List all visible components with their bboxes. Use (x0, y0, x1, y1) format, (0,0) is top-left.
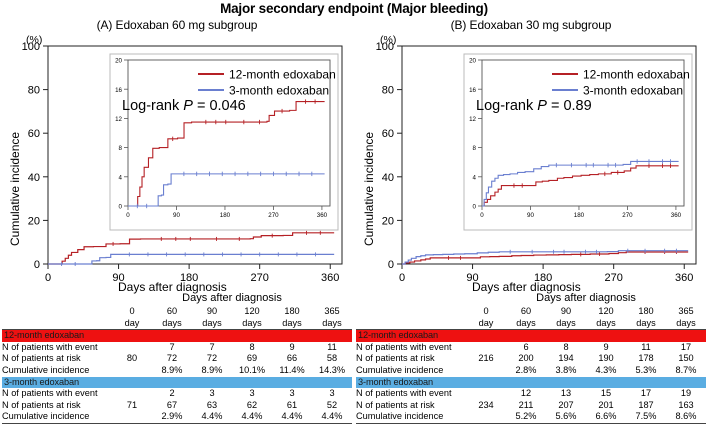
table-cell: 17 (626, 388, 666, 400)
svg-text:270: 270 (605, 272, 623, 284)
table-row: Cumulative incidence2.9%4.4%4.4%4.4%4.4% (2, 411, 352, 423)
table-group-band-label: 12-month edoxaban (356, 330, 466, 342)
table-cell: 15 (586, 388, 626, 400)
svg-text:90: 90 (112, 272, 124, 284)
svg-text:16: 16 (115, 87, 122, 94)
svg-text:0: 0 (473, 204, 477, 211)
svg-text:360: 360 (675, 272, 693, 284)
svg-text:360: 360 (321, 272, 339, 284)
table-cell: 4.4% (192, 411, 232, 423)
svg-text:0: 0 (399, 272, 405, 284)
table-cell: 6 (506, 342, 546, 354)
table-cell: 17 (666, 342, 706, 354)
table-col-header-2: 90days (546, 306, 586, 330)
svg-text:16: 16 (469, 87, 476, 94)
svg-text:0: 0 (45, 272, 51, 284)
table-cell: 178 (626, 353, 666, 365)
table-cell: 8.6% (666, 411, 706, 423)
table-cell: 6.6% (586, 411, 626, 423)
table-cell: 62 (232, 400, 272, 412)
table-cell: 4.4% (312, 411, 352, 423)
table-row-label: N of patients with event (356, 342, 466, 354)
svg-text:0: 0 (388, 259, 394, 271)
legend-label-12-month: 12-month edoxaban (583, 68, 690, 82)
table-cell: 2.9% (152, 411, 192, 423)
svg-text:12: 12 (469, 116, 476, 123)
svg-text:360: 360 (317, 212, 328, 219)
table-x-heading-row: Days after diagnosis (356, 292, 706, 306)
svg-text:4: 4 (119, 174, 123, 181)
svg-text:270: 270 (622, 212, 633, 219)
table-cell (112, 342, 152, 354)
svg-text:60: 60 (28, 128, 40, 140)
table-cell: 234 (466, 400, 506, 412)
table-row: Cumulative incidence2.8%3.8%4.3%5.3%8.7% (356, 365, 706, 377)
svg-text:60: 60 (382, 128, 394, 140)
svg-text:8: 8 (473, 145, 477, 152)
table-col-header-3: 120days (232, 306, 272, 330)
table-cell: 7.5% (626, 411, 666, 423)
table-cell (466, 411, 506, 423)
table-cell: 201 (586, 400, 626, 412)
legend-label-3-month: 3-month edoxaban (229, 84, 329, 98)
svg-text:4: 4 (473, 174, 477, 181)
table-cell: 7 (152, 342, 192, 354)
table-row-label: N of patients with event (2, 388, 112, 400)
table-row: Cumulative incidence8.9%8.9%10.1%11.4%14… (2, 365, 352, 377)
table-row-label: Cumulative incidence (2, 411, 112, 423)
table-cell: 8 (232, 342, 272, 354)
table-cell: 211 (506, 400, 546, 412)
table-cell: 2.8% (506, 365, 546, 377)
table-cell: 11 (626, 342, 666, 354)
table-header-row: 0day60days90days120days180days365days (356, 306, 706, 330)
logrank-annotation: Log-rank P = 0.89 (476, 98, 592, 114)
table-cell: 200 (506, 353, 546, 365)
table-cell: 4.3% (586, 365, 626, 377)
svg-text:180: 180 (220, 212, 231, 219)
table-cell: 194 (546, 353, 586, 365)
table-cell: 3 (272, 388, 312, 400)
table-cell: 207 (546, 400, 586, 412)
svg-text:0: 0 (480, 212, 484, 219)
table-row: N of patients with event23333 (2, 388, 352, 400)
table-row-label: N of patients at risk (2, 353, 112, 365)
table-group-band: 12-month edoxaban (356, 330, 706, 342)
table-row-label: N of patients at risk (356, 400, 466, 412)
figure-title: Major secondary endpoint (Major bleeding… (0, 1, 708, 16)
table-cell: 8.9% (192, 365, 232, 377)
table-cell: 5.3% (626, 365, 666, 377)
table-cell: 3 (312, 388, 352, 400)
table-col-header-0: 0day (112, 306, 152, 330)
risk-table-b-wrap: Days after diagnosis0day60days90days120d… (356, 292, 706, 424)
table-cell: 5.6% (546, 411, 586, 423)
table-x-heading: Days after diagnosis (112, 292, 352, 306)
table-col-header-1: 60days (152, 306, 192, 330)
svg-text:20: 20 (28, 215, 40, 227)
svg-text:0: 0 (34, 259, 40, 271)
table-cell: 3.8% (546, 365, 586, 377)
table-cell (112, 365, 152, 377)
table-cell: 190 (586, 353, 626, 365)
table-group-band-label: 3-month edoxaban (2, 377, 112, 389)
svg-text:20: 20 (382, 215, 394, 227)
table-group-band-label: 3-month edoxaban (356, 377, 466, 389)
svg-text:40: 40 (382, 172, 394, 184)
table-row: N of patients at risk716763626152 (2, 400, 352, 412)
svg-text:12: 12 (115, 116, 122, 123)
table-cell: 58 (312, 353, 352, 365)
svg-text:180: 180 (534, 272, 552, 284)
table-group-band-label: 12-month edoxaban (2, 330, 112, 342)
table-col-header-2: 90days (192, 306, 232, 330)
table-cell: 10.1% (232, 365, 272, 377)
table-cell: 8.9% (152, 365, 192, 377)
logrank-annotation: Log-rank P = 0.046 (122, 98, 246, 114)
table-group-band: 3-month edoxaban (2, 377, 352, 389)
table-header-row: 0day60days90days120days180days365days (2, 306, 352, 330)
table-cell: 71 (112, 400, 152, 412)
svg-text:90: 90 (527, 212, 534, 219)
table-cell: 187 (626, 400, 666, 412)
svg-text:100: 100 (376, 41, 394, 53)
panel-a-plot: 0204060801000901802703600481216200901802… (0, 18, 354, 300)
svg-text:0: 0 (126, 212, 130, 219)
table-row-label: N of patients with event (356, 388, 466, 400)
table-row-label: N of patients with event (2, 342, 112, 354)
table-cell: 72 (152, 353, 192, 365)
svg-text:270: 270 (251, 272, 269, 284)
table-cell: 4.4% (232, 411, 272, 423)
table-cell (112, 388, 152, 400)
table-cell: 8.7% (666, 365, 706, 377)
table-group-band: 12-month edoxaban (2, 330, 352, 342)
svg-text:360: 360 (671, 212, 682, 219)
legend-label-3-month: 3-month edoxaban (583, 84, 683, 98)
table-col-header-3: 120days (586, 306, 626, 330)
svg-text:80: 80 (28, 85, 40, 97)
table-cell: 80 (112, 353, 152, 365)
svg-text:20: 20 (115, 58, 122, 65)
table-cell: 11.4% (272, 365, 312, 377)
table-row: N of patients with event6891117 (356, 342, 706, 354)
table-cell: 69 (232, 353, 272, 365)
table-row-label: Cumulative incidence (356, 411, 466, 423)
table-cell: 163 (666, 400, 706, 412)
table-cell: 2 (152, 388, 192, 400)
table-cell: 14.3% (312, 365, 352, 377)
svg-text:270: 270 (268, 212, 279, 219)
svg-text:8: 8 (119, 145, 123, 152)
risk-table-a: Days after diagnosis0day60days90days120d… (2, 292, 352, 424)
figure-root: Major secondary endpoint (Major bleeding… (0, 0, 708, 420)
table-cell: 66 (272, 353, 312, 365)
table-cell: 9 (586, 342, 626, 354)
table-cell (466, 342, 506, 354)
table-cell: 52 (312, 400, 352, 412)
svg-text:180: 180 (574, 212, 585, 219)
table-cell: 63 (192, 400, 232, 412)
table-row-label: N of patients at risk (356, 353, 466, 365)
table-cell: 5.2% (506, 411, 546, 423)
table-cell (466, 388, 506, 400)
svg-text:0: 0 (119, 204, 123, 211)
table-cell (466, 365, 506, 377)
table-cell: 13 (546, 388, 586, 400)
table-row: N of patients with event778911 (2, 342, 352, 354)
svg-text:80: 80 (382, 85, 394, 97)
table-cell: 8 (546, 342, 586, 354)
table-cell: 72 (192, 353, 232, 365)
table-row-label: N of patients at risk (2, 400, 112, 412)
table-row: N of patients at risk234211207201187163 (356, 400, 706, 412)
table-cell: 216 (466, 353, 506, 365)
table-row: N of patients at risk216200194190178150 (356, 353, 706, 365)
table-col-header-5: 365days (666, 306, 706, 330)
table-cell: 19 (666, 388, 706, 400)
table-cell: 9 (272, 342, 312, 354)
table-cell: 150 (666, 353, 706, 365)
table-col-header-0: 0day (466, 306, 506, 330)
table-col-header-5: 365days (312, 306, 352, 330)
table-cell: 61 (272, 400, 312, 412)
table-cell: 11 (312, 342, 352, 354)
panel-b-plot: 0204060801000901802703600481216200901802… (354, 18, 708, 300)
svg-text:40: 40 (28, 172, 40, 184)
table-cell: 4.4% (272, 411, 312, 423)
table-col-header-4: 180days (626, 306, 666, 330)
legend-label-12-month: 12-month edoxaban (229, 68, 336, 82)
svg-text:20: 20 (469, 58, 476, 65)
table-cell: 3 (192, 388, 232, 400)
panel-a: (A) Edoxaban 60 mg subgroup (%) Cumulati… (0, 18, 354, 300)
svg-text:90: 90 (466, 272, 478, 284)
table-x-heading: Days after diagnosis (466, 292, 706, 306)
table-cell: 7 (192, 342, 232, 354)
table-cell: 67 (152, 400, 192, 412)
svg-text:180: 180 (180, 272, 198, 284)
table-row: N of patients at risk807272696658 (2, 353, 352, 365)
svg-text:90: 90 (173, 212, 180, 219)
table-row-label: Cumulative incidence (356, 365, 466, 377)
table-x-heading-row: Days after diagnosis (2, 292, 352, 306)
panel-b: (B) Edoxaban 30 mg subgroup (%) Cumulati… (354, 18, 708, 300)
table-group-band: 3-month edoxaban (356, 377, 706, 389)
risk-table-b: Days after diagnosis0day60days90days120d… (356, 292, 706, 424)
table-col-header-1: 60days (506, 306, 546, 330)
svg-text:100: 100 (22, 41, 40, 53)
table-row: N of patients with event1213151719 (356, 388, 706, 400)
table-cell: 3 (232, 388, 272, 400)
table-cell (112, 411, 152, 423)
table-row-label: Cumulative incidence (2, 365, 112, 377)
table-row: Cumulative incidence5.2%5.6%6.6%7.5%8.6% (356, 411, 706, 423)
table-col-header-4: 180days (272, 306, 312, 330)
table-cell: 12 (506, 388, 546, 400)
risk-table-a-wrap: Days after diagnosis0day60days90days120d… (2, 292, 352, 424)
